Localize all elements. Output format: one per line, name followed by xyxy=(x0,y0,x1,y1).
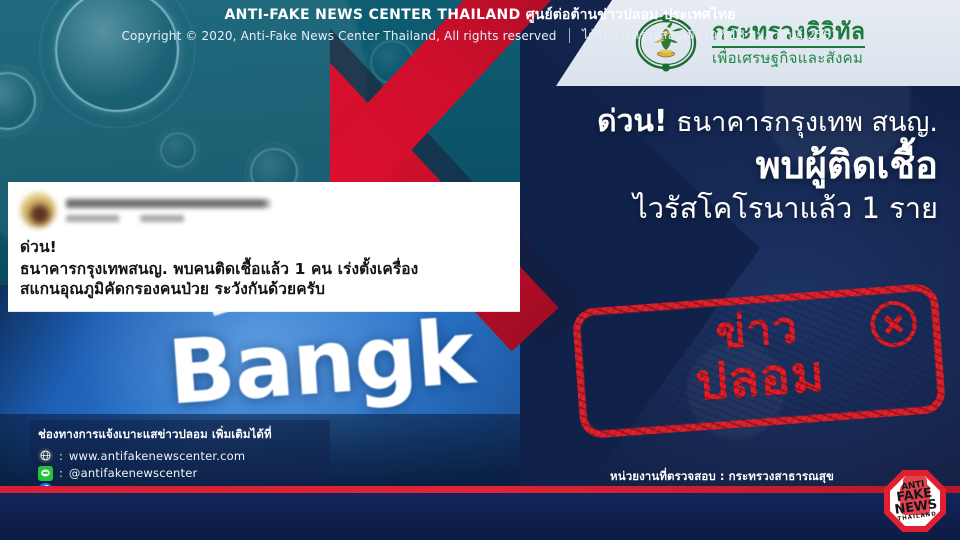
contact-value-website: www.antifakenewscenter.com xyxy=(69,449,245,463)
ministry-subtitle: เพื่อเศรษฐกิจและสังคม xyxy=(712,51,865,67)
footer-title-th: ศูนย์ต่อต้านข่าวปลอม ประเทศไทย xyxy=(526,7,736,23)
post-body-line-2: ธนาคารกรุงเทพสนญ. พบคนติดเชื้อแล้ว 1 คน … xyxy=(20,259,508,280)
contact-separator: : xyxy=(59,449,63,463)
line-icon xyxy=(38,466,53,481)
fake-news-stamp: ข่าว ปลอม xyxy=(572,283,947,439)
post-body-line-3: สแกนอุณภูมิคัดกรองคนป่วย ระวังกันด้วยครั… xyxy=(20,279,508,300)
footer-bar xyxy=(0,493,960,540)
footer-title-en: ANTI-FAKE NEWS CENTER THAILAND xyxy=(224,7,520,23)
virus-particle-icon xyxy=(160,132,196,168)
post-header xyxy=(20,192,508,228)
footer-verified-date: ได้รับการตรวจสอบเมื่อวันที่ 18 กุมภาพันธ… xyxy=(582,26,838,45)
headline-urgent-word: ด่วน! xyxy=(597,104,668,139)
verifying-agency-line: หน่วยงานที่ตรวจสอบ : กระทรวงสาธารณสุข xyxy=(610,468,834,486)
globe-icon xyxy=(38,448,53,463)
contact-row-website[interactable]: : www.antifakenewscenter.com xyxy=(38,448,320,463)
post-author-name-redacted xyxy=(66,199,271,208)
contact-row-line[interactable]: : @antifakenewscenter xyxy=(38,466,320,481)
anti-fake-news-badge: ANTI FAKE NEWS THAILAND xyxy=(884,470,946,532)
avatar xyxy=(20,192,56,228)
post-meta xyxy=(66,199,508,222)
footer-title: ANTI-FAKE NEWS CENTER THAILAND ศูนย์ต่อต… xyxy=(0,4,960,26)
red-accent-stripe xyxy=(0,486,960,493)
contact-value-line: @antifakenewscenter xyxy=(69,466,198,480)
contact-title: ช่องทางการแจ้งเบาะแสข่าวปลอม เพิ่มเติมได… xyxy=(38,426,320,444)
virus-particle-icon xyxy=(0,72,36,130)
social-media-post-card: ด่วน! ธนาคารกรุงเทพสนญ. พบคนติดเชื้อแล้ว… xyxy=(8,182,520,312)
footer-subtitle: Copyright © 2020, Anti-Fake News Center … xyxy=(0,26,960,45)
headline-line-2: พบผู้ติดเชื้อ xyxy=(518,143,938,189)
headline-line-1-rest: ธนาคารกรุงเทพ สนญ. xyxy=(668,107,938,138)
headline-block: ด่วน! ธนาคารกรุงเทพ สนญ. พบผู้ติดเชื้อ ไ… xyxy=(518,104,938,226)
post-body-line-1: ด่วน! xyxy=(20,237,508,258)
headline-line-1: ด่วน! ธนาคารกรุงเทพ สนญ. xyxy=(518,104,938,141)
post-timestamp-redacted xyxy=(66,215,184,222)
post-body: ด่วน! ธนาคารกรุงเทพสนญ. พบคนติดเชื้อแล้ว… xyxy=(20,237,508,300)
headline-line-3: ไวรัสโคโรนาแล้ว 1 ราย xyxy=(518,190,938,226)
footer-divider xyxy=(569,28,571,43)
fake-news-infographic: Bangk xyxy=(0,0,960,540)
badge-label: ANTI FAKE NEWS THAILAND xyxy=(880,466,950,536)
contact-separator: : xyxy=(59,466,63,480)
footer-copyright: Copyright © 2020, Anti-Fake News Center … xyxy=(121,29,556,43)
